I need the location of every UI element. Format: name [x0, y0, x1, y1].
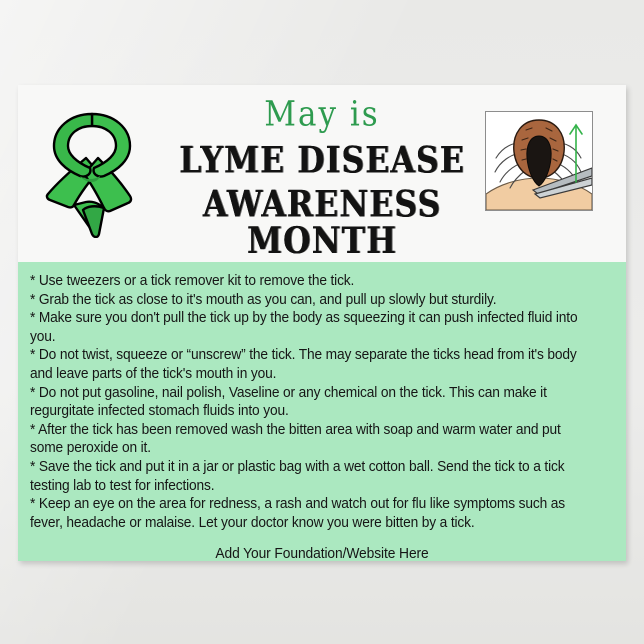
tick-removal-illustration [485, 111, 593, 211]
list-item: * Make sure you don't pull the tick up b… [30, 309, 588, 346]
flyer-header: May is LYME DISEASE AWARENESS MONTH How … [18, 85, 626, 262]
list-item: * Save the tick and put it in a jar or p… [30, 458, 588, 495]
list-item: * Grab the tick as close to it's mouth a… [30, 291, 588, 310]
eyebrow-may-is: May is [136, 94, 508, 135]
awareness-ribbon-icon [38, 106, 146, 238]
list-item: * Do not twist, squeeze or “unscrew” the… [30, 346, 588, 383]
lyme-awareness-flyer: May is LYME DISEASE AWARENESS MONTH How … [18, 85, 626, 561]
title-block: May is LYME DISEASE AWARENESS MONTH How … [136, 90, 508, 289]
page-title-line-2: AWARENESS MONTH [132, 187, 511, 260]
list-item: * Use tweezers or a tick remover kit to … [30, 272, 588, 291]
list-item: * After the tick has been removed wash t… [30, 421, 588, 458]
page-title-line-1: LYME DISEASE [132, 143, 511, 180]
list-item: * Do not put gasoline, nail polish, Vase… [30, 384, 588, 421]
footer-placeholder-text: Add Your Foundation/Website Here [42, 546, 603, 561]
list-item: * Keep an eye on the area for redness, a… [30, 495, 588, 532]
flyer-body: * Use tweezers or a tick remover kit to … [18, 262, 626, 561]
instruction-list: * Use tweezers or a tick remover kit to … [30, 272, 614, 532]
